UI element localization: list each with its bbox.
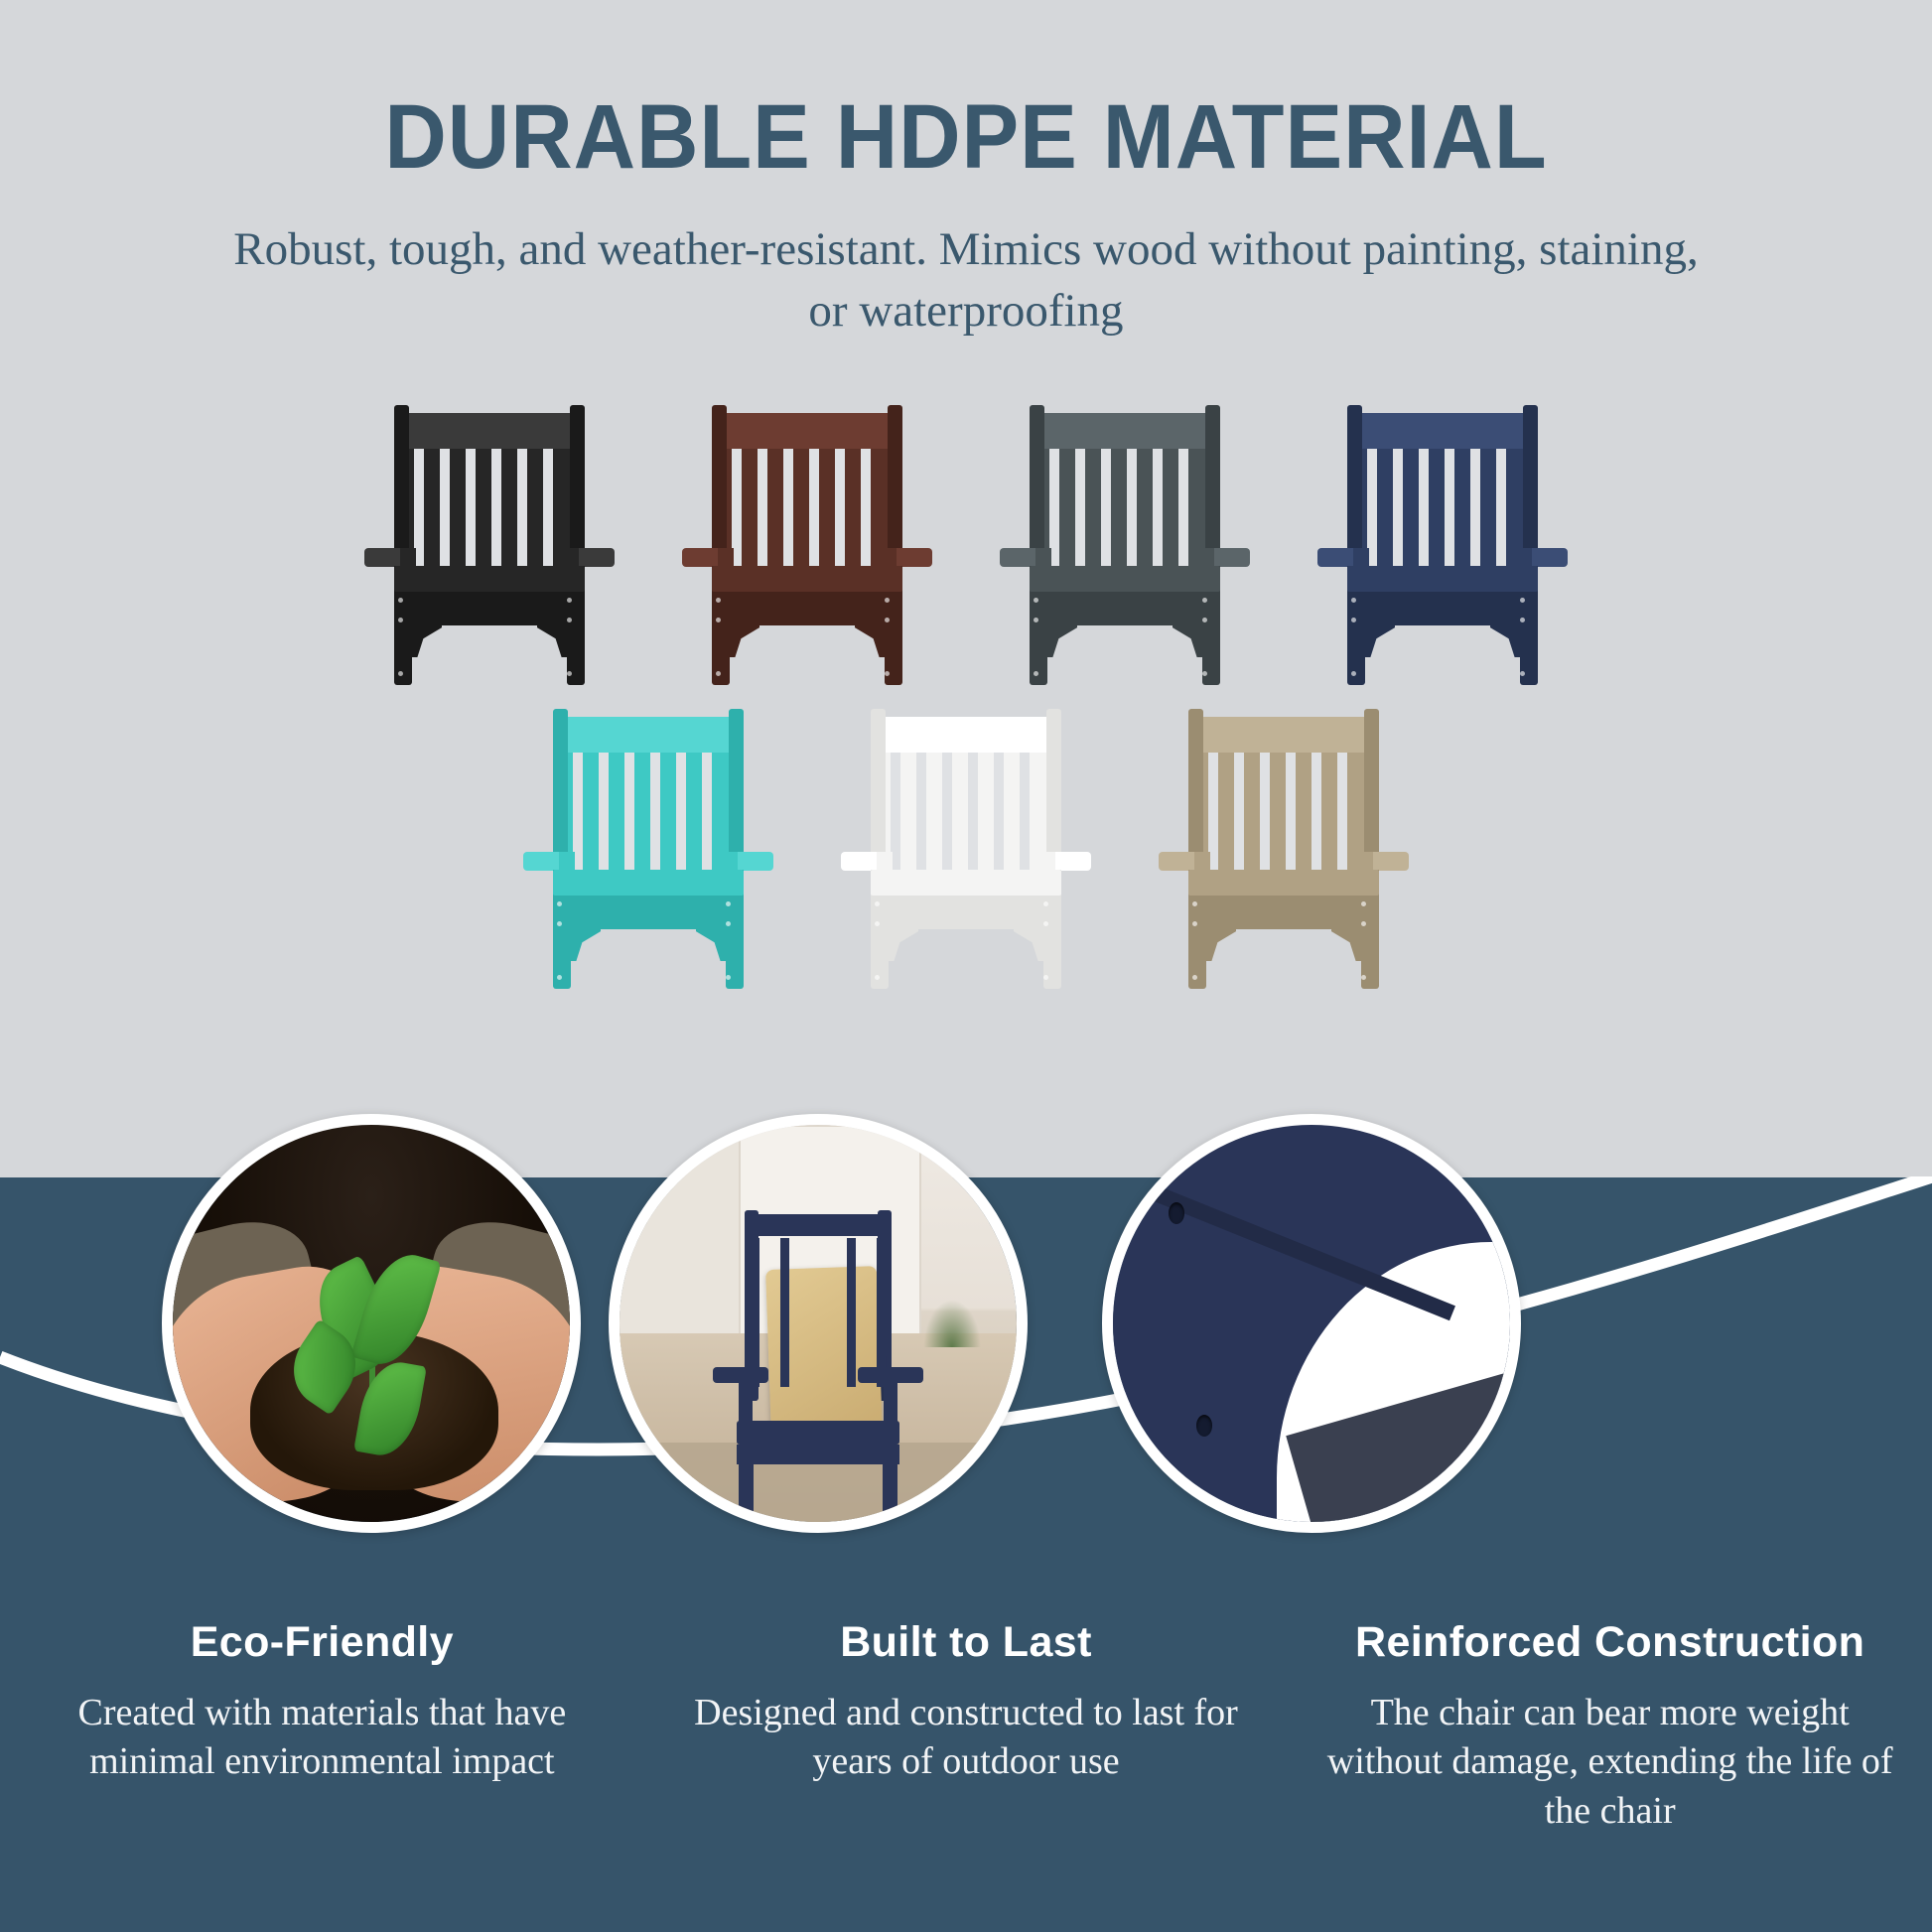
chair-slat-gap — [1419, 445, 1429, 566]
chair-screw-dot — [1192, 901, 1197, 906]
feature-heading: Eco-Friendly — [24, 1618, 621, 1667]
chair-slat-gap — [440, 445, 450, 566]
chair-back-panel — [877, 749, 1055, 870]
chair-apron — [1030, 592, 1220, 625]
chair-screw-dot — [1520, 598, 1525, 603]
chair-leg-left — [739, 1458, 754, 1522]
screw-hole-bottom-icon — [1196, 1415, 1212, 1437]
page-subtitle: Robust, tough, and weather-resistant. Mi… — [216, 218, 1716, 342]
chair-slat-4 — [877, 1238, 886, 1387]
chair-slat-gap — [1020, 749, 1030, 870]
chair-screw-dot — [1361, 975, 1366, 980]
chair-screw-dot — [716, 671, 721, 676]
chair-seat — [871, 870, 1061, 896]
chair-back-panel — [1035, 445, 1214, 566]
infographic-canvas: DURABLE HDPE MATERIAL Robust, tough, and… — [0, 0, 1932, 1932]
screw-hole-top-icon — [1169, 1202, 1184, 1224]
chair-seat — [712, 566, 902, 592]
chair-screw-dot — [1034, 598, 1038, 603]
photo-inner — [1113, 1125, 1510, 1522]
chair-slat-3 — [847, 1238, 856, 1387]
chair-screw-dot — [726, 975, 731, 980]
chair-post-left — [1030, 405, 1044, 572]
chair-apron — [737, 1445, 899, 1464]
chair-slat-gap — [1178, 445, 1188, 566]
feature-heading: Reinforced Construction — [1311, 1618, 1908, 1667]
chair-render — [523, 701, 773, 989]
header: DURABLE HDPE MATERIAL Robust, tough, and… — [0, 0, 1932, 342]
chair-screw-dot — [716, 598, 721, 603]
chair-screw-dot — [885, 618, 890, 622]
chair-slat-gap — [676, 749, 686, 870]
chair-screw-dot — [1034, 671, 1038, 676]
chair-slat-gap — [1127, 445, 1137, 566]
chair-slat-gap — [968, 749, 978, 870]
chair-slat-gap — [1234, 749, 1244, 870]
navy-chair-render — [711, 1210, 925, 1522]
chair-render — [1000, 397, 1250, 685]
chair-top-rail — [1035, 413, 1214, 449]
chair-slat-gap — [517, 445, 527, 566]
chair-screw-dot — [1520, 618, 1525, 622]
chair-post-right — [888, 405, 902, 572]
chair-bracket-left — [730, 623, 759, 657]
chair-slat-gap — [916, 749, 926, 870]
chair-back-panel — [1194, 749, 1373, 870]
chair-slat-gap — [835, 445, 845, 566]
chair-post-left — [394, 405, 409, 572]
chair-screw-dot — [1351, 598, 1356, 603]
page-title: DURABLE HDPE MATERIAL — [58, 0, 1873, 183]
feature-columns: Eco-Friendly Created with materials that… — [0, 1618, 1932, 1836]
chair-screw-dot — [726, 921, 731, 926]
photo-hdpe-corner-closeup — [1102, 1114, 1521, 1533]
chair-screw-dot — [875, 901, 880, 906]
chair-slat-1 — [751, 1238, 759, 1387]
chair-screw-dot — [875, 975, 880, 980]
chair-swatch-navy-blue[interactable] — [1317, 397, 1568, 685]
chair-seat — [737, 1421, 899, 1445]
chair-render — [1159, 701, 1409, 989]
chair-screw-dot — [557, 975, 562, 980]
chair-screw-dot — [1043, 921, 1048, 926]
chair-slat-gap — [1286, 749, 1296, 870]
chair-top-rail — [400, 413, 579, 449]
chair-screw-dot — [567, 618, 572, 622]
chair-bracket-right — [1173, 623, 1202, 657]
chair-slat-gap — [1337, 749, 1347, 870]
chair-slat-gap — [1311, 749, 1321, 870]
chair-apron — [712, 592, 902, 625]
chair-bracket-right — [696, 927, 726, 961]
chair-render — [682, 397, 932, 685]
chair-bracket-left — [889, 927, 918, 961]
chair-top-rail — [1194, 717, 1373, 753]
chair-slat-2 — [780, 1238, 789, 1387]
chair-top-rail — [718, 413, 897, 449]
chair-slat-gap — [1075, 445, 1085, 566]
chair-slat-gap — [624, 749, 634, 870]
chair-seat — [1030, 566, 1220, 592]
chair-post-right — [1205, 405, 1220, 572]
chair-screw-dot — [567, 598, 572, 603]
chair-seat — [1188, 870, 1379, 896]
chair-post-right — [1364, 709, 1379, 876]
feature-column-eco-friendly: Eco-Friendly Created with materials that… — [0, 1618, 644, 1836]
chair-slat-gap — [1445, 445, 1454, 566]
chair-slat-gap — [466, 445, 476, 566]
chair-screw-dot — [1361, 921, 1366, 926]
feature-body: Created with materials that have minimal… — [24, 1689, 621, 1787]
chair-post-left — [712, 405, 727, 572]
chair-screw-dot — [1351, 618, 1356, 622]
chair-slat-gap — [809, 445, 819, 566]
chair-render — [364, 397, 615, 685]
chair-screw-dot — [1351, 671, 1356, 676]
feature-body: The chair can bear more weight without d… — [1311, 1689, 1908, 1836]
feature-column-reinforced-construction: Reinforced Construction The chair can be… — [1288, 1618, 1932, 1836]
chair-slat-gap — [491, 445, 501, 566]
chair-slat-gap — [543, 445, 553, 566]
chair-bracket-right — [537, 623, 567, 657]
chair-slat-gap — [599, 749, 609, 870]
chair-bracket-right — [1490, 623, 1520, 657]
photo-inner — [620, 1125, 1017, 1522]
chair-bracket-left — [571, 927, 601, 961]
chair-back-panel — [718, 445, 897, 566]
chair-slat-gap — [758, 445, 767, 566]
chair-slat-gap — [1470, 445, 1480, 566]
chair-slat-gap — [1153, 445, 1163, 566]
patio-grass — [923, 1300, 981, 1347]
chair-color-grid — [0, 397, 1932, 989]
chair-bracket-right — [1014, 927, 1043, 961]
chair-post-left — [1188, 709, 1203, 876]
feature-column-built-to-last: Built to Last Designed and constructed t… — [644, 1618, 1289, 1836]
chair-apron — [1347, 592, 1538, 625]
chair-screw-dot — [726, 901, 731, 906]
chair-slat-gap — [702, 749, 712, 870]
chair-screw-dot — [1043, 901, 1048, 906]
chair-seat — [1347, 566, 1538, 592]
chair-row-1 — [0, 397, 1932, 685]
chair-swatch-tan[interactable] — [1159, 701, 1409, 989]
chair-screw-dot — [1202, 618, 1207, 622]
photo-strip — [0, 1114, 1932, 1581]
chair-swatch-black[interactable] — [364, 397, 615, 685]
chair-slat-gap — [1393, 445, 1403, 566]
chair-screw-dot — [567, 671, 572, 676]
chair-screw-dot — [1361, 901, 1366, 906]
chair-screw-dot — [1034, 618, 1038, 622]
chair-slat-gap — [650, 749, 660, 870]
chair-swatch-brown[interactable] — [682, 397, 932, 685]
chair-screw-dot — [885, 671, 890, 676]
chair-screw-dot — [557, 921, 562, 926]
chair-top-rail — [751, 1214, 886, 1236]
chair-slat-gap — [1496, 445, 1506, 566]
chair-back-panel — [1353, 445, 1532, 566]
chair-screw-dot — [1202, 598, 1207, 603]
chair-slat-gap — [1260, 749, 1270, 870]
chair-apron — [871, 896, 1061, 929]
chair-screw-dot — [557, 901, 562, 906]
chair-slat-gap — [1101, 445, 1111, 566]
chair-row-2 — [0, 701, 1932, 989]
chair-seat — [553, 870, 744, 896]
feature-body: Designed and constructed to last for yea… — [668, 1689, 1265, 1787]
chair-post-left — [553, 709, 568, 876]
chair-back-panel — [400, 445, 579, 566]
chair-screw-dot — [885, 598, 890, 603]
chair-back-panel — [559, 749, 738, 870]
chair-screw-dot — [398, 598, 403, 603]
chair-slat-gap — [861, 445, 871, 566]
chair-screw-dot — [398, 671, 403, 676]
chair-screw-dot — [1202, 671, 1207, 676]
chair-top-rail — [1353, 413, 1532, 449]
chair-bracket-left — [1365, 623, 1395, 657]
chair-render — [1317, 397, 1568, 685]
chair-leg-right — [883, 1458, 897, 1522]
chair-post-left — [871, 709, 886, 876]
chair-apron — [1188, 896, 1379, 929]
chair-bracket-right — [1331, 927, 1361, 961]
chair-screw-dot — [398, 618, 403, 622]
chair-swatch-dark-gray[interactable] — [1000, 397, 1250, 685]
chair-post-right — [570, 405, 585, 572]
photo-eco-hands-soil-seedling — [162, 1114, 581, 1533]
chair-screw-dot — [875, 921, 880, 926]
chair-post-right — [729, 709, 744, 876]
chair-post-left — [1347, 405, 1362, 572]
chair-render — [841, 701, 1091, 989]
chair-post-right — [1523, 405, 1538, 572]
chair-top-rail — [559, 717, 738, 753]
chair-apron — [394, 592, 585, 625]
chair-bracket-left — [1206, 927, 1236, 961]
chair-screw-dot — [1520, 671, 1525, 676]
chair-swatch-white[interactable] — [841, 701, 1091, 989]
photo-navy-chair-on-patio — [609, 1114, 1028, 1533]
chair-bracket-left — [1047, 623, 1077, 657]
chair-swatch-turquoise[interactable] — [523, 701, 773, 989]
chair-slat-gap — [942, 749, 952, 870]
chair-screw-dot — [1192, 921, 1197, 926]
feature-heading: Built to Last — [668, 1618, 1265, 1667]
chair-post-right — [1046, 709, 1061, 876]
chair-screw-dot — [1043, 975, 1048, 980]
chair-seat — [394, 566, 585, 592]
chair-bracket-right — [855, 623, 885, 657]
chair-top-rail — [877, 717, 1055, 753]
photo-inner — [173, 1125, 570, 1522]
chair-bracket-left — [412, 623, 442, 657]
chair-screw-dot — [1192, 975, 1197, 980]
chair-screw-dot — [716, 618, 721, 622]
chair-slat-gap — [783, 445, 793, 566]
chair-slat-gap — [994, 749, 1004, 870]
chair-apron — [553, 896, 744, 929]
